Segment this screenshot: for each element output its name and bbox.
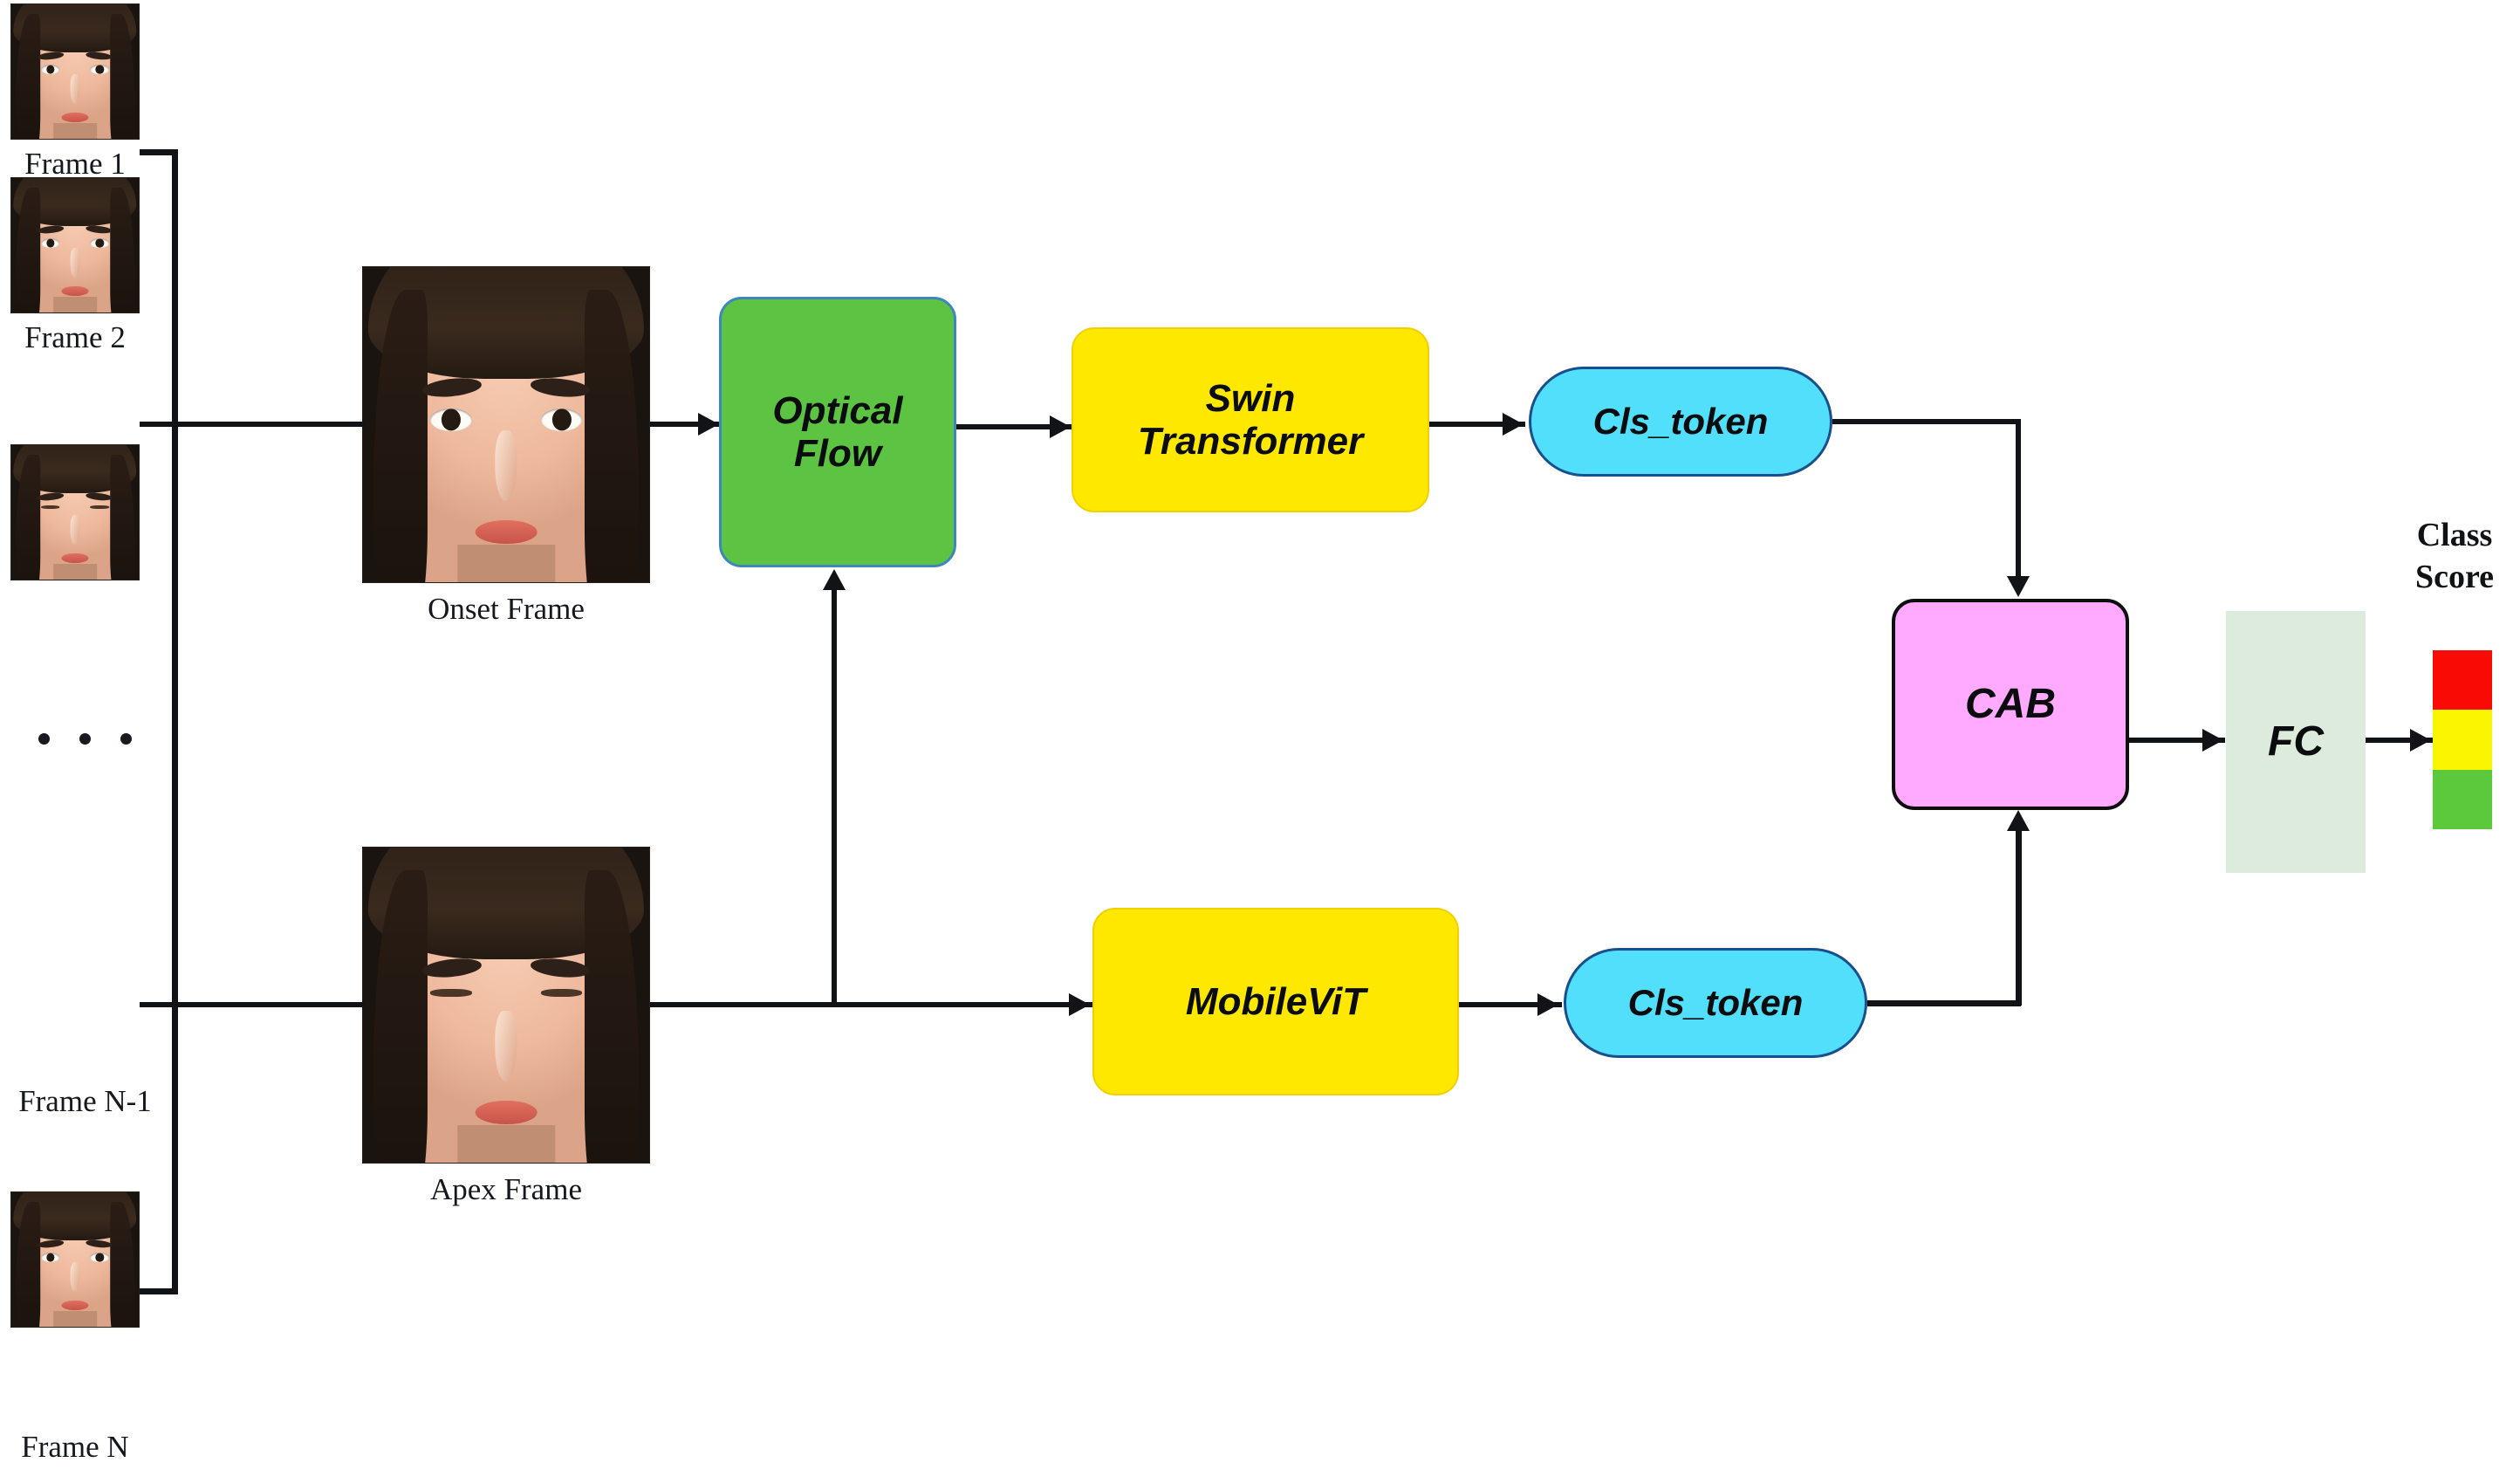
- eye-right: [91, 65, 109, 74]
- arrowhead-mobilevit-to-cls-token: [1537, 993, 1558, 1016]
- nose: [70, 1262, 79, 1293]
- connector-vertical-spine: [172, 149, 178, 1294]
- neck: [457, 1125, 555, 1163]
- class-score-bars: [2433, 650, 2492, 829]
- mobilevit-block[interactable]: MobileViT: [1092, 908, 1459, 1095]
- face-illustration: [20, 4, 130, 140]
- eyebrow-right: [530, 375, 590, 399]
- apex-frame-label: Apex Frame: [353, 1172, 659, 1207]
- class-score-title: Class Score: [2389, 515, 2520, 598]
- eyebrow-left: [38, 51, 65, 60]
- swin-transformer-label-line1: Swin: [1206, 377, 1296, 420]
- cls-token-top-block[interactable]: Cls_token: [1529, 367, 1832, 477]
- arrowhead-optical-flow-to-swin: [1050, 415, 1071, 438]
- mouth: [61, 113, 88, 123]
- eye-right: [540, 989, 582, 997]
- architecture-diagram: Frame 1 Frame 2: [0, 0, 2520, 1483]
- neck: [53, 297, 97, 312]
- neck: [457, 545, 555, 582]
- connector-frame2-to-onset: [140, 422, 365, 427]
- eyebrow-left: [421, 375, 482, 399]
- eye-right: [540, 409, 582, 431]
- optical-flow-label-line2: Flow: [794, 432, 881, 475]
- input-frame-thumbnail: [10, 3, 140, 140]
- eyebrow-left: [38, 1239, 65, 1248]
- swin-transformer-block[interactable]: Swin Transformer: [1072, 327, 1429, 512]
- input-frame-label: Frame N: [0, 1430, 150, 1465]
- cls-token-bottom-label: Cls_token: [1628, 982, 1804, 1023]
- input-frame-thumbnail: [10, 1191, 140, 1328]
- mobilevit-label: MobileViT: [1186, 980, 1366, 1023]
- class-bar-red: [2433, 650, 2492, 710]
- cls-token-top-label: Cls_token: [1593, 401, 1769, 442]
- eye-right: [91, 1253, 109, 1262]
- arrowhead-cls-token-bottom-to-cab: [2007, 810, 2030, 831]
- connector-cls-token-bottom-to-cab-horizontal: [1867, 1000, 2021, 1006]
- cab-label: CAB: [1965, 681, 2056, 728]
- input-frame-label: Frame 1: [0, 147, 150, 182]
- nose: [495, 1011, 517, 1081]
- nose: [70, 248, 79, 278]
- eyebrow-right: [86, 491, 113, 501]
- eye-left: [430, 409, 472, 431]
- input-frame-thumbnail: [10, 177, 140, 313]
- optical-flow-label-line1: Optical: [772, 389, 902, 432]
- nose: [70, 515, 79, 546]
- class-bar-yellow: [2433, 710, 2492, 769]
- input-frame-label: Frame N-1: [0, 1084, 170, 1119]
- eyebrow-right: [86, 51, 113, 60]
- eye-left: [41, 505, 59, 509]
- onset-frame-label: Onset Frame: [353, 592, 659, 627]
- optical-flow-block[interactable]: Optical Flow: [719, 297, 956, 567]
- face-illustration: [20, 1192, 130, 1328]
- eyebrow-right: [86, 1239, 113, 1248]
- connector-cls-token-top-to-cab-horizontal: [1832, 419, 2021, 424]
- eye-right: [91, 505, 109, 509]
- cab-block[interactable]: CAB: [1892, 599, 2129, 810]
- eyebrow-right: [530, 956, 590, 979]
- eyebrow-left: [38, 224, 65, 234]
- connector-apex-branch-vertical: [832, 590, 837, 1006]
- eyebrow-left: [421, 956, 482, 979]
- eye-left: [430, 989, 472, 997]
- fc-block[interactable]: FC: [2226, 611, 2366, 873]
- eyebrow-right: [86, 224, 113, 234]
- input-frame-thumbnail: [10, 444, 140, 580]
- frames-ellipsis: [38, 733, 132, 745]
- mouth: [476, 1101, 538, 1125]
- apex-frame-thumbnail: [362, 847, 650, 1164]
- face-illustration: [383, 267, 629, 583]
- input-frame-label: Frame 2: [0, 320, 150, 355]
- fc-label: FC: [2268, 718, 2324, 766]
- arrowhead-swin-to-cls-token: [1503, 413, 1524, 436]
- arrowhead-cls-token-top-to-cab: [2007, 576, 2030, 597]
- nose: [70, 74, 79, 105]
- nose: [495, 430, 517, 501]
- arrowhead-apex-to-mobilevit: [1069, 993, 1090, 1016]
- mouth: [61, 286, 88, 297]
- arrowhead-fc-to-class-score: [2410, 729, 2431, 752]
- neck: [53, 1311, 97, 1327]
- swin-transformer-label-line2: Transformer: [1138, 420, 1363, 463]
- arrowhead-cab-to-fc: [2202, 729, 2223, 752]
- class-score-title-line1: Class: [2389, 515, 2520, 557]
- neck: [53, 564, 97, 580]
- mouth: [61, 553, 88, 564]
- eye-left: [41, 238, 59, 248]
- mouth: [476, 520, 538, 545]
- connector-frameN-right: [140, 1288, 178, 1294]
- connector-cls-token-bottom-to-cab-vertical: [2016, 831, 2022, 1006]
- eyebrow-left: [38, 491, 65, 501]
- mouth: [61, 1301, 88, 1311]
- face-illustration: [20, 445, 130, 580]
- connector-frameN1-to-apex: [140, 1002, 365, 1007]
- class-score-title-line2: Score: [2389, 557, 2520, 599]
- onset-frame-thumbnail: [362, 266, 650, 583]
- neck: [53, 123, 97, 139]
- face-illustration: [20, 178, 130, 313]
- eye-left: [41, 1253, 59, 1262]
- class-bar-green: [2433, 770, 2492, 829]
- eye-left: [41, 65, 59, 74]
- connector-apex-to-mobilevit: [650, 1002, 1095, 1007]
- face-illustration: [383, 848, 629, 1164]
- connector-cls-token-top-to-cab-vertical: [2016, 419, 2021, 583]
- arrowhead-apex-branch-to-optical-flow: [823, 569, 846, 590]
- arrowhead-onset-to-optical-flow: [698, 413, 719, 436]
- cls-token-bottom-block[interactable]: Cls_token: [1564, 948, 1867, 1058]
- eye-right: [91, 238, 109, 248]
